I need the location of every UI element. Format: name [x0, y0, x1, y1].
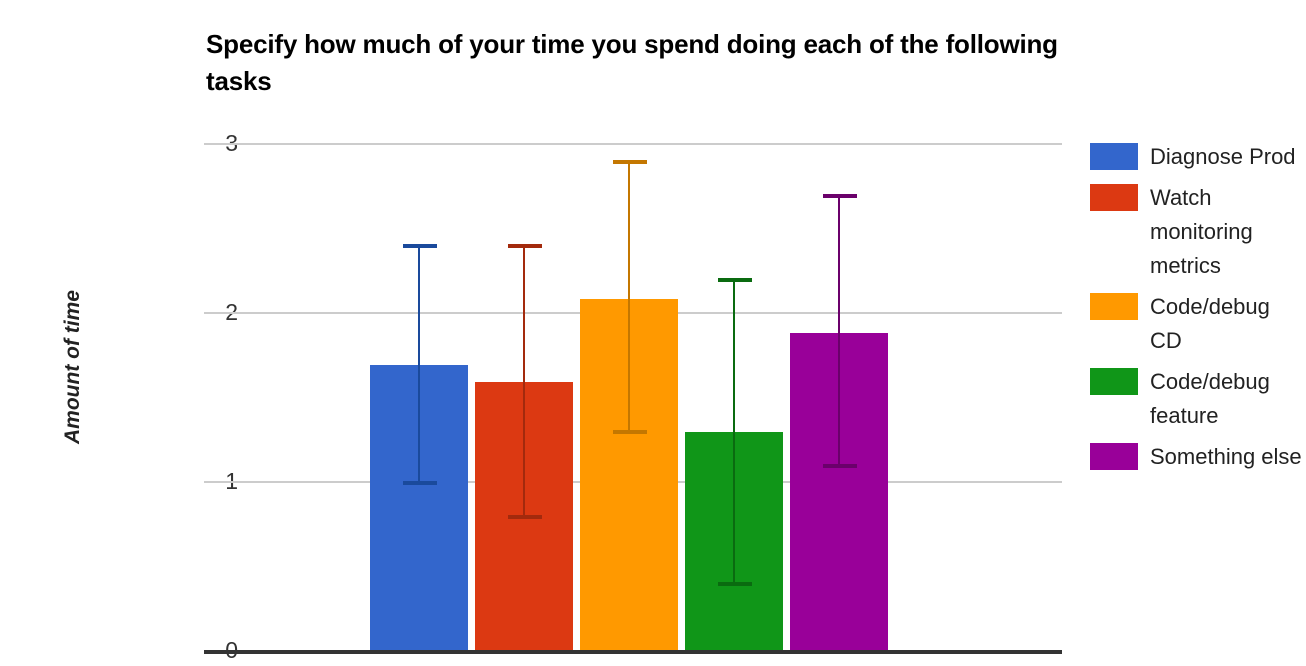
error-bar-cap-low [823, 464, 857, 468]
error-bar-stem [523, 246, 525, 516]
legend-color-swatch [1090, 143, 1138, 170]
error-bar-cap-high [823, 194, 857, 198]
chart-title: Specify how much of your time you spend … [206, 26, 1066, 100]
gridline [204, 143, 1062, 145]
error-bar-cap-low [718, 582, 752, 586]
legend-color-swatch [1090, 293, 1138, 320]
legend-color-swatch [1090, 443, 1138, 470]
error-bar-cap-low [508, 515, 542, 519]
legend-item-label: Code/debug CD [1150, 290, 1306, 358]
legend-item[interactable]: Something else [1090, 440, 1306, 474]
legend-color-swatch [1090, 368, 1138, 395]
error-bar-cap-high [718, 278, 752, 282]
legend-item[interactable]: Code/debug feature [1090, 365, 1306, 433]
legend-color-swatch [1090, 184, 1138, 211]
error-bar-cap-low [403, 481, 437, 485]
error-bar-stem [628, 162, 630, 432]
legend-item[interactable]: Diagnose Prod [1090, 140, 1306, 174]
legend-item[interactable]: Code/debug CD [1090, 290, 1306, 358]
x-axis-line [204, 650, 1062, 654]
legend-item-label: Watch monitoring metrics [1150, 181, 1306, 283]
chart-container: Specify how much of your time you spend … [0, 0, 1306, 666]
plot-area [204, 145, 1062, 652]
legend-item-label: Diagnose Prod [1150, 140, 1296, 174]
legend-item-label: Code/debug feature [1150, 365, 1306, 433]
error-bar-stem [733, 280, 735, 584]
error-bar-cap-high [403, 244, 437, 248]
error-bar-cap-high [613, 160, 647, 164]
error-bar-cap-low [613, 430, 647, 434]
error-bar-stem [418, 246, 420, 483]
error-bar-cap-high [508, 244, 542, 248]
error-bar-stem [838, 196, 840, 466]
legend-item[interactable]: Watch monitoring metrics [1090, 181, 1306, 283]
legend-item-label: Something else [1150, 440, 1302, 474]
chart-legend: Diagnose ProdWatch monitoring metricsCod… [1090, 140, 1306, 481]
y-axis-title: Amount of time [61, 267, 85, 467]
